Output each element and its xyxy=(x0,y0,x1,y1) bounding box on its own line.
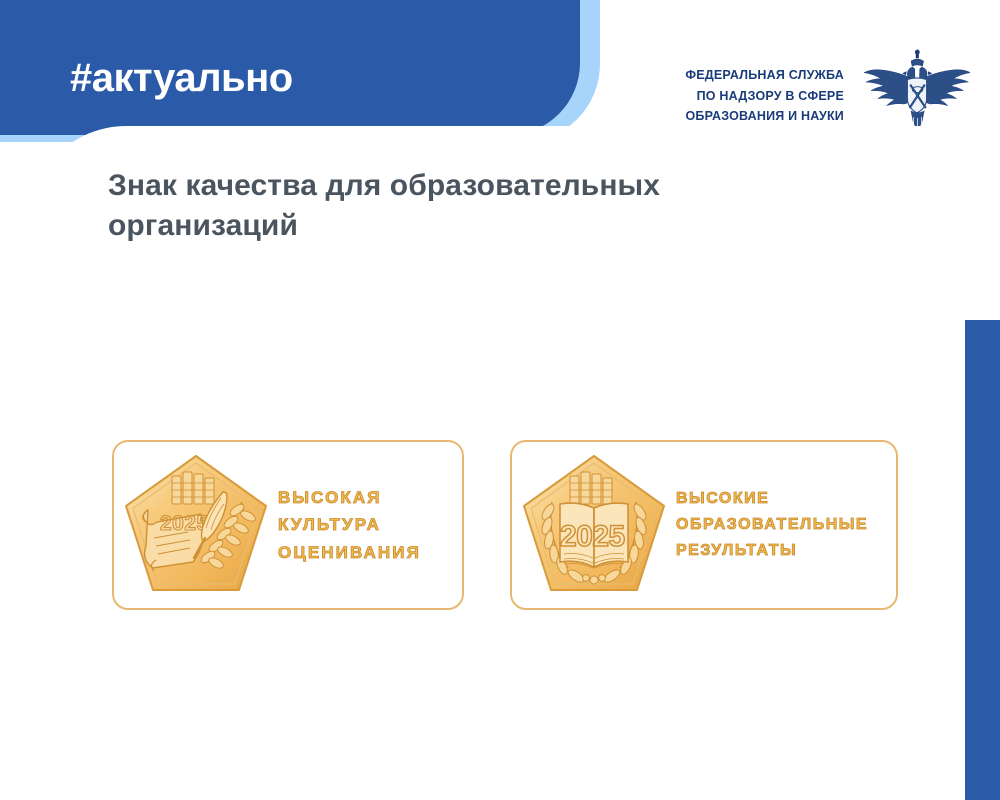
side-accent-bar xyxy=(965,320,1000,800)
badge-a-line-2: КУЛЬТУРА xyxy=(278,511,446,539)
hashtag-label: #актуально xyxy=(70,58,293,98)
pentagon-medal-scroll-quill-icon: 2025 xyxy=(120,450,272,600)
badge-b-line-3: РЕЗУЛЬТАТЫ xyxy=(676,538,880,564)
badge-label-high-educational-results: ВЫСОКИЕ ОБРАЗОВАТЕЛЬНЫЕ РЕЗУЛЬТАТЫ xyxy=(670,486,880,564)
organization-line-3: ОБРАЗОВАНИЯ И НАУКИ xyxy=(685,106,844,127)
organization-line-1: ФЕДЕРАЛЬНАЯ СЛУЖБА xyxy=(685,65,844,86)
organization-line-2: ПО НАДЗОРУ В СФЕРЕ xyxy=(685,86,844,107)
badge-card-high-assessment-culture[interactable]: 2025 xyxy=(112,440,464,610)
badge-row: 2025 xyxy=(112,440,898,610)
slide-root: #актуально ФЕДЕРАЛЬНАЯ СЛУЖБА ПО НАДЗОРУ… xyxy=(0,0,1000,800)
organization-name: ФЕДЕРАЛЬНАЯ СЛУЖБА ПО НАДЗОРУ В СФЕРЕ ОБ… xyxy=(685,65,844,127)
badge-a-line-3: ОЦЕНИВАНИЯ xyxy=(278,539,446,567)
svg-text:2025: 2025 xyxy=(560,520,625,553)
badge-b-line-2: ОБРАЗОВАТЕЛЬНЫЕ xyxy=(676,512,880,538)
badge-label-high-assessment-culture: ВЫСОКАЯ КУЛЬТУРА ОЦЕНИВАНИЯ xyxy=(272,484,446,567)
page-title: Знак качества для образовательных органи… xyxy=(108,166,808,245)
badge-b-line-1: ВЫСОКИЕ xyxy=(676,486,880,512)
badge-a-line-1: ВЫСОКАЯ xyxy=(278,484,446,512)
badge-card-high-educational-results[interactable]: 2025 ВЫСОКИЕ ОБРАЗОВАТЕЛЬНЫЕ РЕЗУЛЬТАТЫ xyxy=(510,440,898,610)
pentagon-medal-open-book-icon: 2025 xyxy=(518,450,670,600)
